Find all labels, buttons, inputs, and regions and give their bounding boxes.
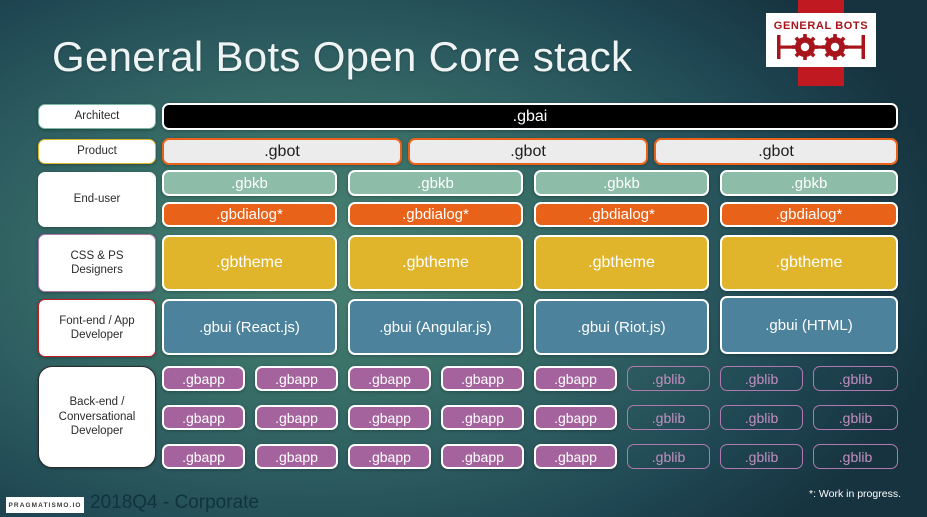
layer-cell-gbkb[interactable]: .gbkb [534,170,709,196]
cell-label: .gbdialog* [402,206,469,223]
cell-label: .gbapp [182,410,225,426]
layer-cell-gbapp[interactable]: .gbapp [255,405,338,430]
layer-cell-gbkb[interactable]: .gbkb [348,170,523,196]
cell-label: .gbui (React.js) [199,319,300,336]
cell-label: .gbai [513,108,548,126]
layer-cell-gbapp[interactable]: .gbapp [441,366,524,391]
layer-cell-gbdialog[interactable]: .gbdialog* [534,202,709,227]
cell-label: .gbapp [461,371,504,387]
layer-cell-gbdialog[interactable]: .gbdialog* [162,202,337,227]
layer-cell-gbot[interactable]: .gbot [654,138,898,165]
layer-cell-gbapp[interactable]: .gbapp [441,444,524,469]
cell-label: .gblib [652,410,685,426]
layer-cell-gbui-riot[interactable]: .gbui (Riot.js) [534,299,709,355]
layer-cell-gbapp[interactable]: .gbapp [162,405,245,430]
layer-cell-gbapp[interactable]: .gbapp [348,405,431,430]
footer-caption: 2018Q4 - Corporate [90,492,259,514]
layer-cell-gbtheme[interactable]: .gbtheme [720,235,898,291]
logo-plate: GENERAL BOTS [766,13,876,67]
pragmatismo-wordmark: PRAGMATISMO.IO [8,502,81,509]
cell-label: .gblib [745,449,778,465]
cell-label: .gbapp [461,410,504,426]
cell-label: .gbtheme [588,254,655,272]
cell-label: .gbot [758,143,794,161]
layer-cell-gbapp[interactable]: .gbapp [162,366,245,391]
layer-cell-gbui-angular[interactable]: .gbui (Angular.js) [348,299,523,355]
role-label-text: Back-end / Conversational Developer [59,395,136,438]
layer-cell-gblib[interactable]: .gblib [813,444,898,469]
layer-cell-gblib[interactable]: .gblib [627,366,710,391]
layer-cell-gbapp[interactable]: .gbapp [348,444,431,469]
general-bots-logo: GENERAL BOTS [766,0,876,86]
cell-label: .gbtheme [216,254,283,272]
cell-label: .gbapp [275,449,318,465]
cell-label: .gbtheme [776,254,843,272]
layer-cell-gbapp[interactable]: .gbapp [162,444,245,469]
layer-cell-gbtheme[interactable]: .gbtheme [348,235,523,291]
cell-label: .gbapp [275,410,318,426]
cell-label: .gbapp [368,410,411,426]
layer-cell-gbdialog[interactable]: .gbdialog* [348,202,523,227]
layer-cell-gbapp[interactable]: .gbapp [255,444,338,469]
layer-cell-gbtheme[interactable]: .gbtheme [162,235,337,291]
layer-cell-gblib[interactable]: .gblib [720,366,803,391]
cell-label: .gbtheme [402,254,469,272]
role-label-product: Product [38,139,156,164]
role-label-text: CSS & PS Designers [70,249,123,278]
role-label-front-end-app-developer: Font-end / App Developer [38,299,156,357]
cell-label: .gbdialog* [216,206,283,223]
role-label-text: Architect [75,109,120,123]
cell-label: .gbapp [182,371,225,387]
cell-label: .gbapp [554,410,597,426]
layer-cell-gblib[interactable]: .gblib [720,444,803,469]
cell-label: .gblib [839,371,872,387]
cell-label: .gbkb [417,175,454,192]
layer-cell-gbai[interactable]: .gbai [162,103,898,130]
cell-label: .gblib [652,449,685,465]
layer-cell-gblib[interactable]: .gblib [627,444,710,469]
role-label-back-end-conversational-developer: Back-end / Conversational Developer [38,366,156,468]
cell-label: .gblib [652,371,685,387]
layer-cell-gblib[interactable]: .gblib [627,405,710,430]
layer-cell-gbdialog[interactable]: .gbdialog* [720,202,898,227]
layer-cell-gbapp[interactable]: .gbapp [534,405,617,430]
cell-label: .gblib [839,449,872,465]
cell-label: .gbdialog* [776,206,843,223]
cell-label: .gbdialog* [588,206,655,223]
cell-label: .gbkb [603,175,640,192]
cell-label: .gbapp [368,371,411,387]
layer-cell-gbkb[interactable]: .gbkb [720,170,898,196]
cell-label: .gbapp [461,449,504,465]
cell-label: .gbot [264,143,300,161]
layer-cell-gbui-html[interactable]: .gbui (HTML) [720,296,898,354]
footnote-work-in-progress: *: Work in progress. [809,488,901,500]
layer-cell-gblib[interactable]: .gblib [813,405,898,430]
role-label-text: End-user [74,192,121,206]
layer-cell-gbapp[interactable]: .gbapp [534,366,617,391]
cell-label: .gbui (Angular.js) [379,319,492,336]
role-label-architect: Architect [38,104,156,129]
layer-cell-gbapp[interactable]: .gbapp [534,444,617,469]
layer-cell-gblib[interactable]: .gblib [720,405,803,430]
page-title: General Bots Open Core stack [52,33,632,81]
cell-label: .gblib [745,410,778,426]
cell-label: .gbui (HTML) [765,317,853,334]
role-label-css-ps-designers: CSS & PS Designers [38,234,156,292]
pragmatismo-logo: PRAGMATISMO.IO [6,497,84,513]
cell-label: .gbapp [554,371,597,387]
cell-label: .gbapp [182,449,225,465]
layer-cell-gbot[interactable]: .gbot [162,138,402,165]
layer-cell-gbapp[interactable]: .gbapp [441,405,524,430]
layer-cell-gbkb[interactable]: .gbkb [162,170,337,196]
cell-label: .gbui (Riot.js) [577,319,665,336]
cell-label: .gblib [839,410,872,426]
cell-label: .gbkb [791,175,828,192]
cell-label: .gbapp [554,449,597,465]
cell-label: .gbot [510,143,546,161]
cell-label: .gbapp [275,371,318,387]
layer-cell-gbot[interactable]: .gbot [408,138,648,165]
cell-label: .gbapp [368,449,411,465]
layer-cell-gbapp[interactable]: .gbapp [348,366,431,391]
role-label-text: Font-end / App Developer [59,314,134,343]
slide-canvas: General Bots Open Core stack GENERAL BOT… [0,0,927,517]
layer-cell-gblib[interactable]: .gblib [813,366,898,391]
layer-cell-gbtheme[interactable]: .gbtheme [534,235,709,291]
layer-cell-gbapp[interactable]: .gbapp [255,366,338,391]
role-label-text: Product [77,144,117,158]
cell-label: .gblib [745,371,778,387]
two-gears-axle-icon [775,33,867,61]
logo-wordmark: GENERAL BOTS [774,20,868,32]
role-label-end-user: End-user [38,172,156,227]
cell-label: .gbkb [231,175,268,192]
layer-cell-gbui-react[interactable]: .gbui (React.js) [162,299,337,355]
